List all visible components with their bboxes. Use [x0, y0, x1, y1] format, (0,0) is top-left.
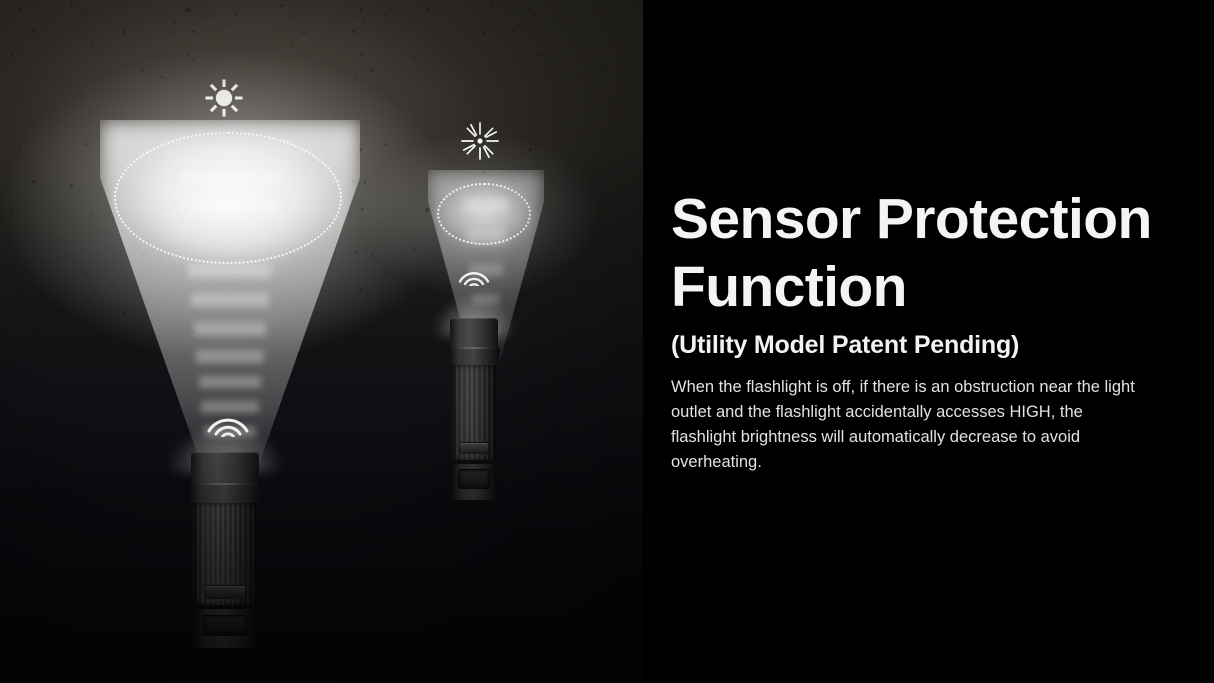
scene-vignette	[0, 0, 643, 683]
product-scene-image	[0, 0, 643, 683]
description-text: When the flashlight is off, if there is …	[671, 375, 1143, 475]
headline: Sensor Protection Function	[671, 186, 1191, 322]
subtitle: (Utility Model Patent Pending)	[671, 331, 1019, 360]
text-panel: Sensor Protection Function (Utility Mode…	[643, 0, 1214, 683]
marketing-banner: Sensor Protection Function (Utility Mode…	[0, 0, 1214, 683]
